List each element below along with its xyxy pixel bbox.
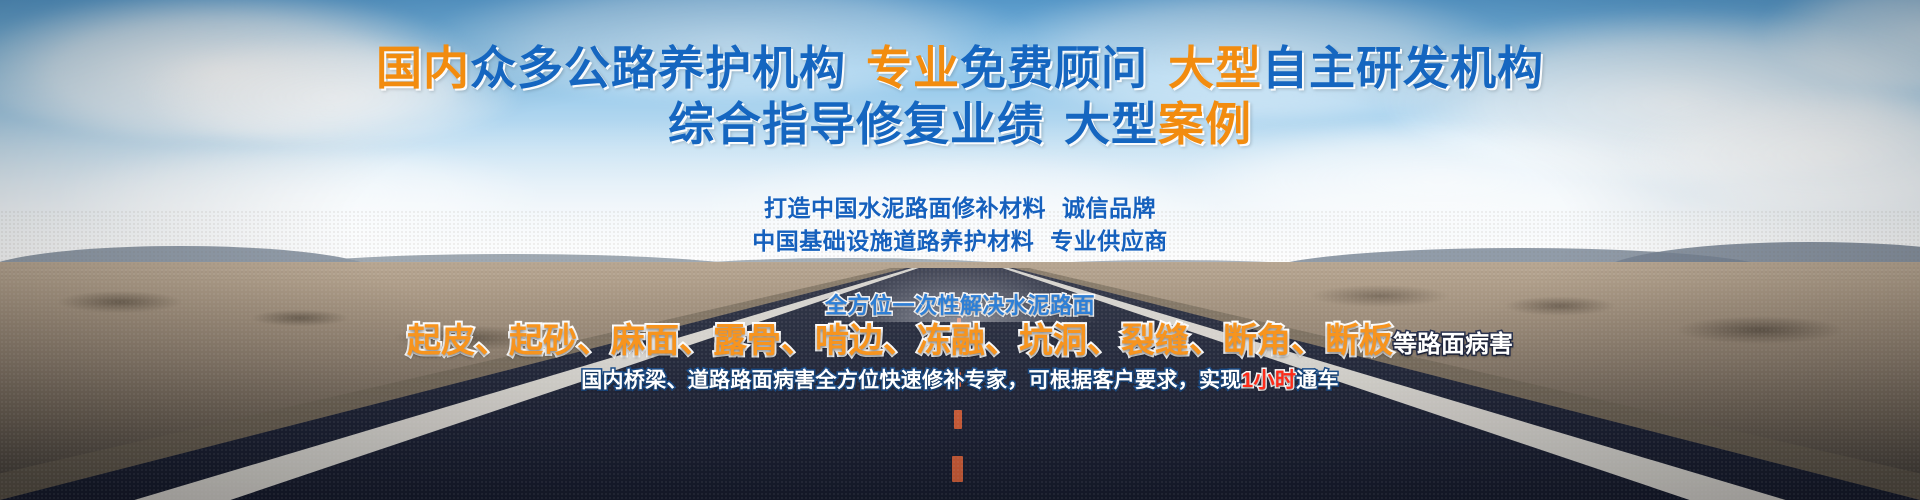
headline-seg-zizhu: 自主研发机构 <box>1262 42 1544 94</box>
subtext-block: 打造中国水泥路面修补材料诚信品牌 中国基础设施道路养护材料专业供应商 <box>0 192 1920 258</box>
defect-list-line: 起皮、起砂、麻面、露骨、啃边、冻融、坑洞、裂缝、断角、断板等路面病害 <box>0 320 1920 366</box>
bottom-claim-suffix: 通车 <box>1296 369 1339 392</box>
headline-seg-anli: 案例 <box>1158 98 1252 150</box>
headline-seg-daxing2: 大型 <box>1064 98 1158 150</box>
banner-content: 国内众多公路养护机构专业免费顾问大型自主研发机构 综合指导修复业绩大型案例 打造… <box>0 0 1920 500</box>
headline-seg-zonghe: 综合指导修复业绩 <box>668 98 1044 150</box>
headline-seg-mianfei: 免费顾问 <box>960 42 1148 94</box>
subtext-line-2-tag: 专业供应商 <box>1050 228 1168 254</box>
subtext-line-1: 打造中国水泥路面修补材料诚信品牌 <box>0 192 1920 225</box>
subtext-line-2: 中国基础设施道路养护材料专业供应商 <box>0 225 1920 258</box>
headline-seg-guonei: 国内 <box>376 42 470 94</box>
hero-banner: 国内众多公路养护机构专业免费顾问大型自主研发机构 综合指导修复业绩大型案例 打造… <box>0 0 1920 500</box>
subtext-line-1-main: 打造中国水泥路面修补材料 <box>764 195 1046 221</box>
bottom-claim-prefix: 国内桥梁、道路路面病害全方位快速修补专家，可根据客户要求，实现 <box>581 369 1241 392</box>
bottom-text-block: 全方位一次性解决水泥路面 起皮、起砂、麻面、露骨、啃边、冻融、坑洞、裂缝、断角、… <box>0 292 1920 396</box>
defect-list: 起皮、起砂、麻面、露骨、啃边、冻融、坑洞、裂缝、断角、断板 <box>407 322 1393 360</box>
headline-seg-zhongduo: 众多公路养护机构 <box>470 42 846 94</box>
bottom-claim-highlight: 1小时 <box>1242 369 1297 392</box>
headline-block: 国内众多公路养护机构专业免费顾问大型自主研发机构 综合指导修复业绩大型案例 <box>0 40 1920 152</box>
headline-seg-zhuanye: 专业 <box>866 42 960 94</box>
headline-line-1: 国内众多公路养护机构专业免费顾问大型自主研发机构 <box>0 40 1920 96</box>
headline-seg-daxing: 大型 <box>1168 42 1262 94</box>
subtext-line-2-main: 中国基础设施道路养护材料 <box>752 228 1034 254</box>
subtext-line-1-tag: 诚信品牌 <box>1062 195 1156 221</box>
bottom-claim-line: 国内桥梁、道路路面病害全方位快速修补专家，可根据客户要求，实现1小时通车 <box>0 366 1920 396</box>
headline-line-2: 综合指导修复业绩大型案例 <box>0 96 1920 152</box>
bottom-headline: 全方位一次性解决水泥路面 <box>0 292 1920 320</box>
defect-list-suffix: 等路面病害 <box>1393 331 1513 358</box>
